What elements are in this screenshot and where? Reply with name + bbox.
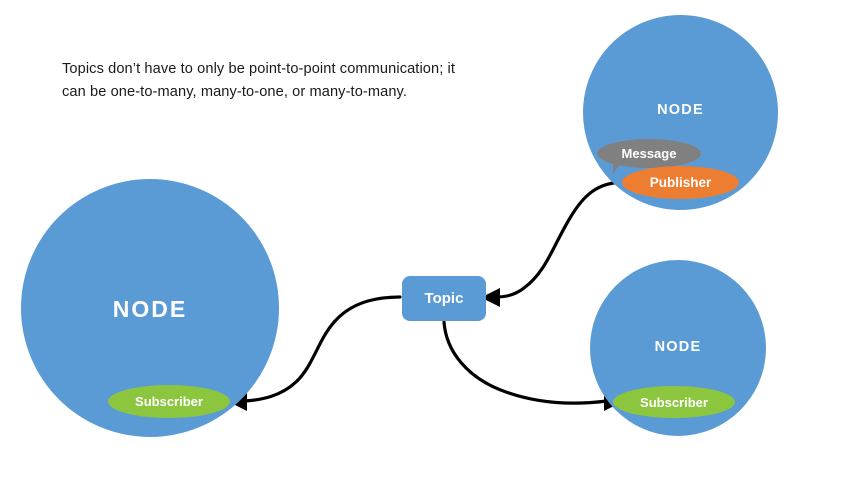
caption-line-1: Topics don’t have to only be point-to-po… <box>62 61 455 77</box>
message-callout-tail-icon <box>613 161 625 174</box>
node-bottom-right-label: NODE <box>590 339 766 355</box>
caption-text: Topics don’t have to only be point-to-po… <box>62 58 482 103</box>
subscriber-ellipse-bottom-right[interactable]: Subscriber <box>613 386 735 418</box>
arrow-publisher-to-topic <box>481 182 625 307</box>
publisher-ellipse[interactable]: Publisher <box>622 166 739 199</box>
caption-line-2: can be one-to-many, many-to-one, or many… <box>62 84 407 100</box>
subscriber-left-label: Subscriber <box>135 394 203 409</box>
subscriber-ellipse-left[interactable]: Subscriber <box>108 385 230 418</box>
node-left-label: NODE <box>21 296 279 323</box>
topic-box[interactable]: Topic <box>402 276 486 321</box>
publisher-label: Publisher <box>650 175 712 190</box>
node-top-right-label: NODE <box>583 102 778 118</box>
topic-label: Topic <box>425 290 464 307</box>
subscriber-bottom-right-label: Subscriber <box>640 395 708 410</box>
diagram-canvas: Topics don’t have to only be point-to-po… <box>0 0 854 480</box>
message-label: Message <box>622 146 677 161</box>
